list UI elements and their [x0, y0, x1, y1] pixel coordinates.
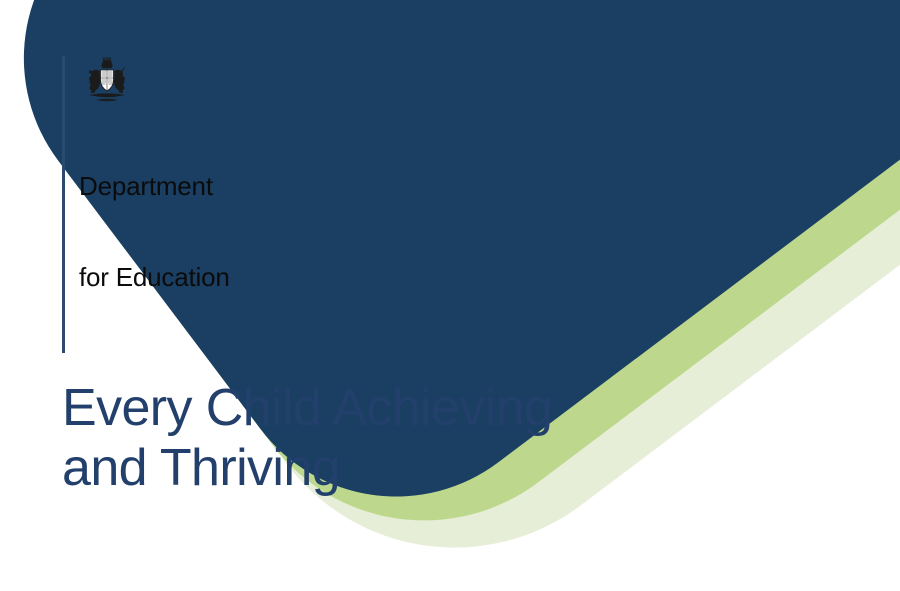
dfe-wordmark-line-1: Department — [79, 171, 230, 201]
dfe-logo: Department for Education — [62, 56, 230, 353]
page-title-line-2: and Thriving — [62, 438, 682, 498]
dfe-wordmark-line-2: for Education — [79, 262, 230, 292]
page-title: Every Child Achieving and Thriving — [62, 378, 682, 499]
logo-body: Department for Education — [65, 56, 230, 353]
royal-coat-of-arms-icon — [79, 56, 135, 104]
dfe-wordmark: Department for Education — [79, 110, 230, 353]
slide-canvas: Department for Education Every Child Ach… — [0, 0, 900, 591]
page-title-line-1: Every Child Achieving — [62, 378, 682, 438]
